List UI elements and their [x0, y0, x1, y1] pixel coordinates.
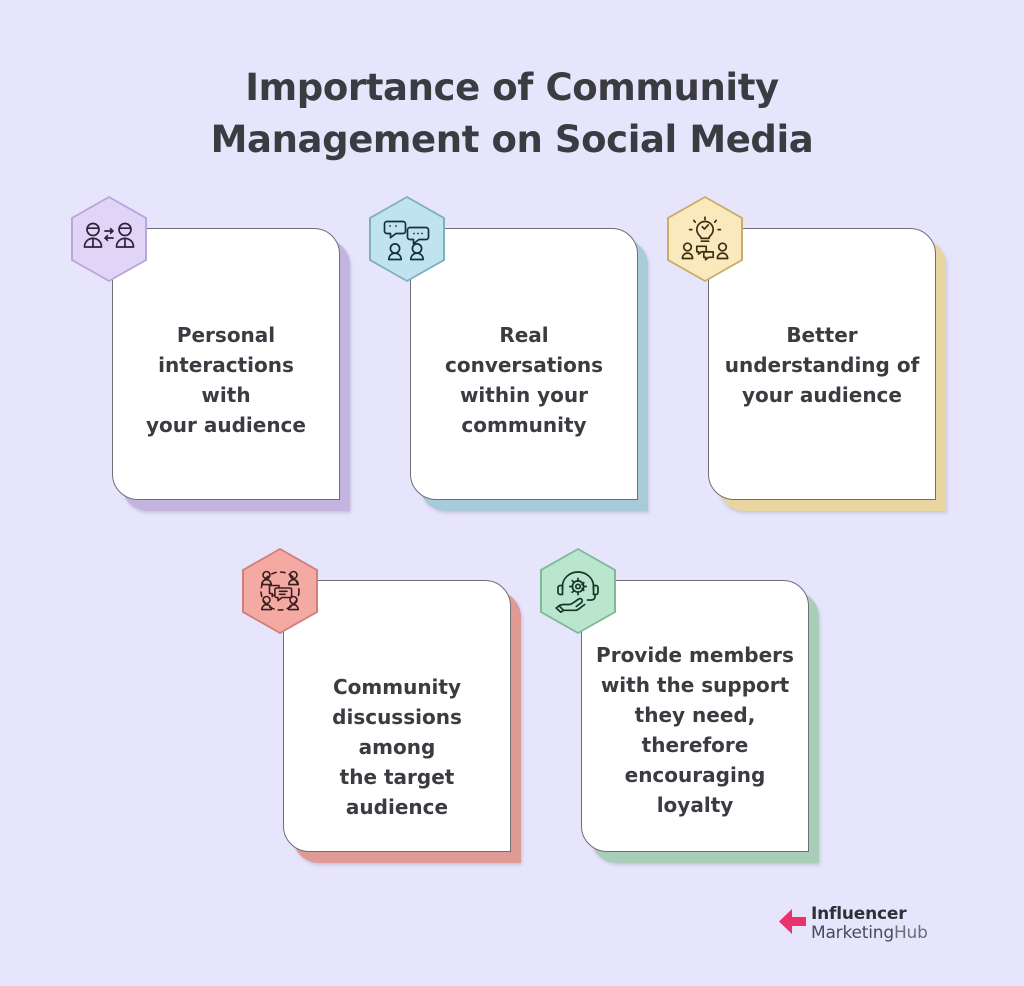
speech-bubbles-two-people-icon [383, 217, 431, 261]
card-provide-support[interactable]: Provide members with the support they ne… [581, 580, 809, 852]
page-title-line-1: Importance of Community [0, 62, 1024, 114]
page-title: Importance of Community Management on So… [0, 62, 1024, 166]
support-headset-gear-hand-icon [554, 569, 602, 613]
group-discussion-circle-icon [254, 567, 306, 615]
logo-hub-text: Hub [894, 923, 928, 943]
card-label: Provide members with the support they ne… [581, 580, 809, 852]
card-real-conversations[interactable]: Real conversations within your community [410, 228, 638, 500]
lightbulb-check-audience-icon [680, 216, 730, 262]
card-better-understanding[interactable]: Better understanding of your audience [708, 228, 936, 500]
two-people-exchange-icon [83, 221, 135, 257]
card-label: Better understanding of your audience [708, 228, 936, 500]
logo-marketing-text: Marketing [811, 923, 894, 943]
page-title-line-2: Management on Social Media [0, 114, 1024, 166]
card-label: Personal interactions with your audience [112, 228, 340, 500]
card-personal-interactions[interactable]: Personal interactions with your audience [112, 228, 340, 500]
card-label: Real conversations within your community [410, 228, 638, 500]
influencer-marketing-hub-logo[interactable]: Influencer MarketingHub [778, 905, 928, 943]
card-community-discussions[interactable]: Community discussions among the target a… [283, 580, 511, 852]
left-arrow-mark [778, 905, 808, 943]
logo-line-2: MarketingHub [811, 924, 928, 943]
logo-line-1: Influencer [811, 905, 928, 924]
card-label: Community discussions among the target a… [283, 580, 511, 852]
